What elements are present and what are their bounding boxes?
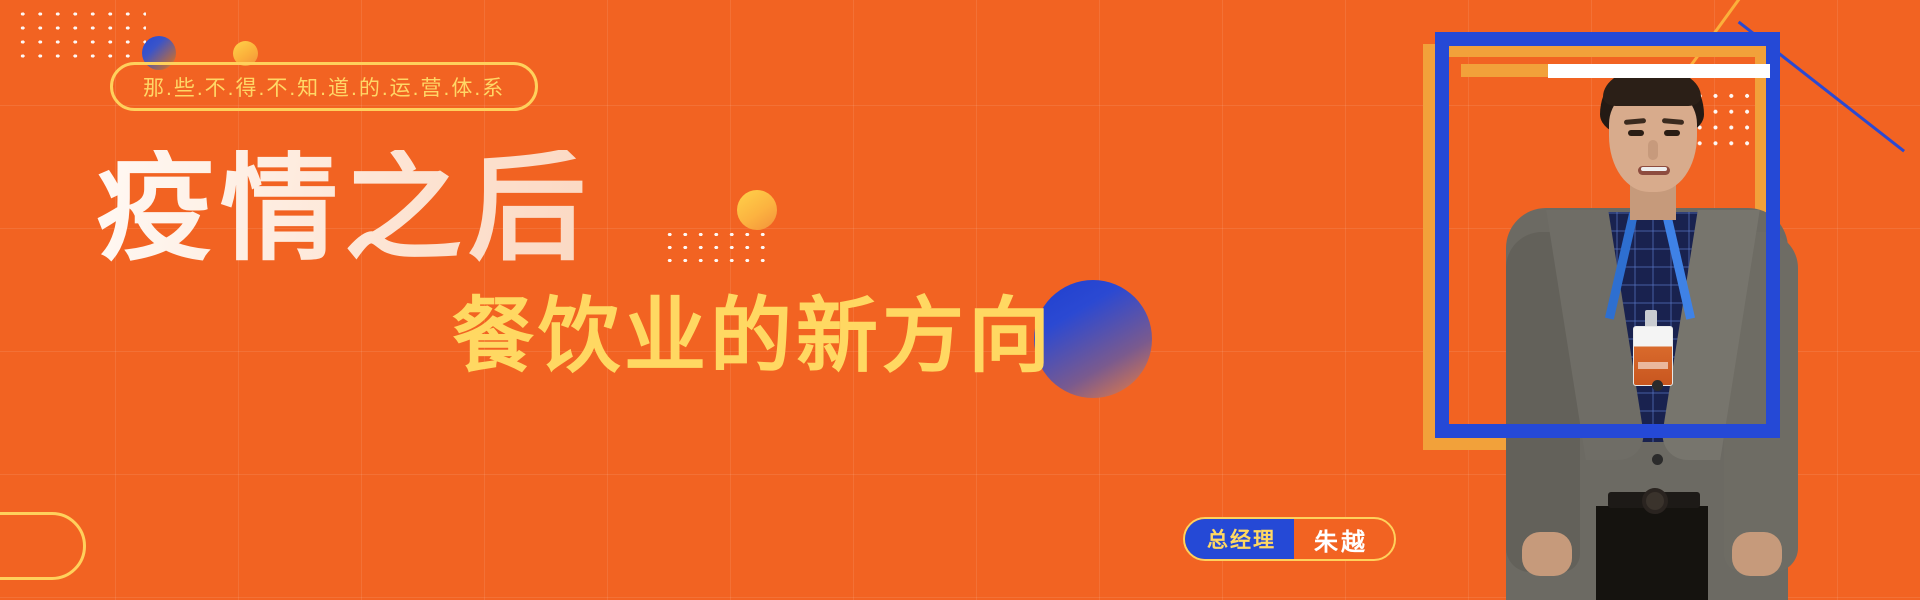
speaker-role-label: 总经理 [1185, 519, 1294, 559]
gradient-sphere-icon [737, 190, 777, 230]
page-title: 疫情之后 [96, 150, 592, 268]
portrait-jacket-button [1652, 454, 1663, 465]
dot-matrix-icon [14, 7, 146, 63]
page-subtitle: 餐饮业的新方向 [452, 296, 1054, 378]
speaker-name-label: 朱越 [1294, 519, 1394, 559]
dot-matrix-icon [662, 228, 772, 266]
portrait-trousers [1596, 506, 1708, 600]
portrait-hand-right [1732, 532, 1782, 576]
photo-frame-blue [1435, 32, 1780, 438]
photo-frame-white-bar [1548, 64, 1770, 78]
rounded-outline-decoration [0, 512, 86, 580]
webinar-banner: 那.些.不.得.不.知.道.的.运.营.体.系 疫情之后 餐饮业的新方向 [0, 0, 1920, 600]
photo-frame-orange-bar [1461, 64, 1551, 77]
eyebrow-tagline: 那.些.不.得.不.知.道.的.运.营.体.系 [110, 62, 538, 111]
portrait-belt-buckle [1642, 488, 1668, 514]
speaker-badge: 总经理 朱越 [1183, 517, 1396, 561]
portrait-hand-left [1522, 532, 1572, 576]
